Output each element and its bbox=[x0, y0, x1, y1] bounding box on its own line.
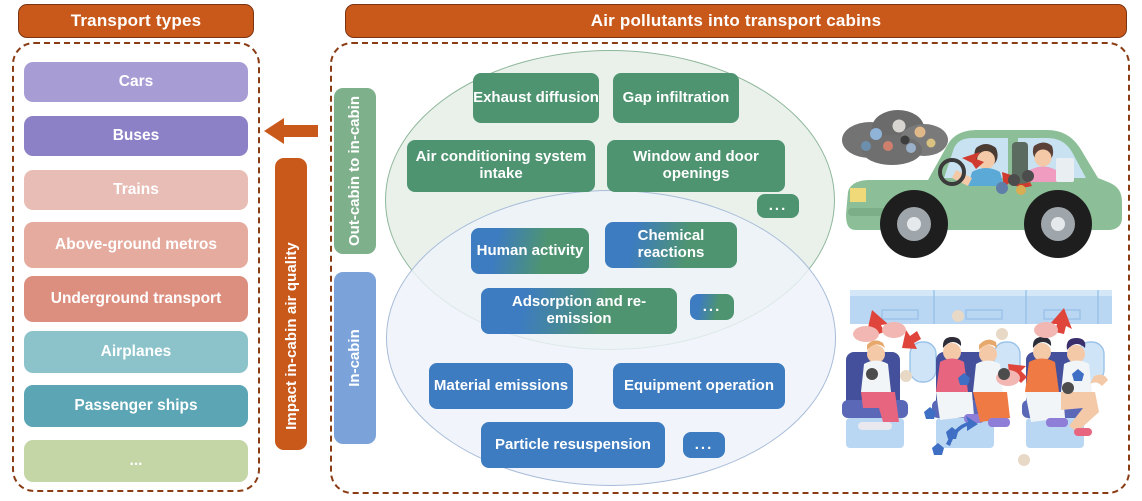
transport-type-above-ground-metros[interactable]: Above-ground metros bbox=[24, 222, 248, 268]
category-tab-in-cabin-label: In-cabin bbox=[347, 329, 364, 387]
cabin-illustration bbox=[836, 282, 1126, 482]
car-illustration bbox=[836, 96, 1126, 266]
node-air-conditioning-system-intake[interactable]: Air conditioning system intake bbox=[407, 140, 595, 192]
node-more-overlap[interactable]: ... bbox=[690, 294, 734, 320]
transport-types-title: Transport types bbox=[18, 4, 254, 38]
category-tab-out-cabin-label: Out-cabin to in-cabin bbox=[347, 96, 364, 246]
transport-type-trains[interactable]: Trains bbox=[24, 170, 248, 210]
transport-type-buses[interactable]: Buses bbox=[24, 116, 248, 156]
category-tab-in-cabin[interactable]: In-cabin bbox=[334, 272, 376, 444]
node-gap-infiltration[interactable]: Gap infiltration bbox=[613, 73, 739, 123]
air-pollutants-title: Air pollutants into transport cabins bbox=[345, 4, 1127, 38]
node-human-activity[interactable]: Human activity bbox=[471, 228, 589, 274]
node-window-and-door-openings[interactable]: Window and door openings bbox=[607, 140, 785, 192]
transport-type-underground-transport[interactable]: Underground transport bbox=[24, 276, 248, 322]
node-chemical-reactions[interactable]: Chemical reactions bbox=[605, 222, 737, 268]
node-exhaust-diffusion[interactable]: Exhaust diffusion bbox=[473, 73, 599, 123]
infographic-root: Transport types Air pollutants into tran… bbox=[0, 0, 1142, 501]
transport-type-cars[interactable]: Cars bbox=[24, 62, 248, 102]
node-more-out-cabin[interactable]: ... bbox=[757, 194, 799, 218]
node-particle-resuspension[interactable]: Particle resuspension bbox=[481, 422, 665, 468]
transport-type-passenger-ships[interactable]: Passenger ships bbox=[24, 385, 248, 427]
arrow-left-icon bbox=[262, 114, 320, 148]
node-adsorption-and-re-emission[interactable]: Adsorption and re-emission bbox=[481, 288, 677, 334]
node-more-in-cabin[interactable]: ... bbox=[683, 432, 725, 458]
category-tab-out-cabin[interactable]: Out-cabin to in-cabin bbox=[334, 88, 376, 254]
node-material-emissions[interactable]: Material emissions bbox=[429, 363, 573, 409]
impact-in-cabin-air-quality-bar bbox=[275, 158, 307, 450]
transport-type-airplanes[interactable]: Airplanes bbox=[24, 331, 248, 373]
node-equipment-operation[interactable]: Equipment operation bbox=[613, 363, 785, 409]
transport-type-more[interactable]: ... bbox=[24, 440, 248, 482]
